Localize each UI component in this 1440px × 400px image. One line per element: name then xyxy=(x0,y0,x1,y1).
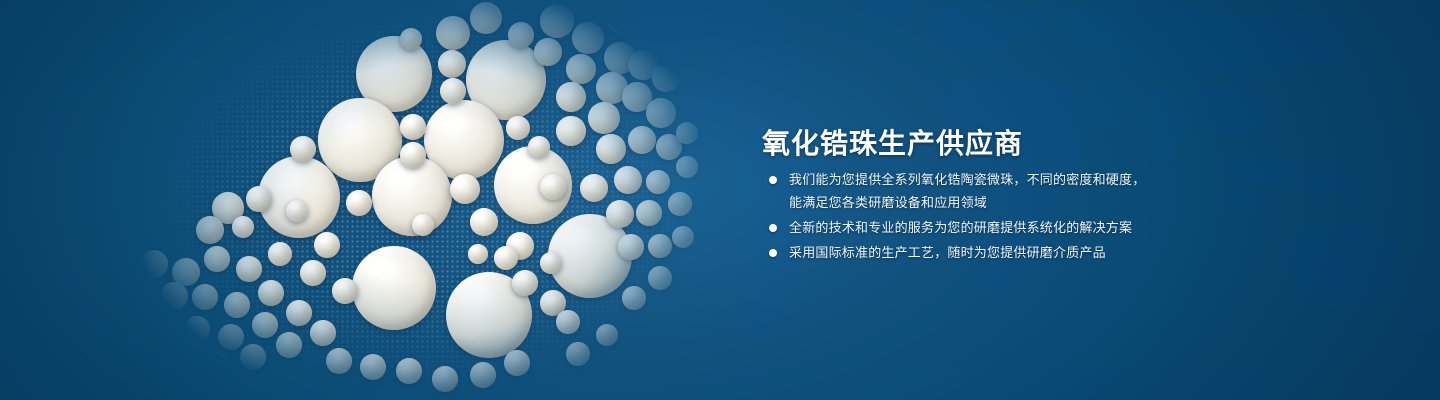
feature-text-line: 能满足您各类研磨设备和应用领域 xyxy=(789,191,1232,214)
promo-banner: 氧化锆珠生产供应商 我们能为您提供全系列氧化锆陶瓷微珠，不同的密度和硬度， 能满… xyxy=(0,0,1440,400)
bullet-dot-icon xyxy=(769,224,777,232)
feature-item: 全新的技术和专业的服务为您的研磨提供系统化的解决方案 xyxy=(762,216,1232,239)
bullet-dot-icon xyxy=(769,176,777,184)
feature-text-line: 全新的技术和专业的服务为您的研磨提供系统化的解决方案 xyxy=(789,216,1232,239)
feature-text-line: 采用国际标准的生产工艺，随时为您提供研磨介质产品 xyxy=(789,241,1232,264)
feature-item: 采用国际标准的生产工艺，随时为您提供研磨介质产品 xyxy=(762,241,1232,264)
banner-title: 氧化锆珠生产供应商 xyxy=(762,127,1023,161)
zirconia-beads-photo xyxy=(0,0,740,400)
feature-text-line: 我们能为您提供全系列氧化锆陶瓷微珠，不同的密度和硬度， xyxy=(789,168,1232,191)
feature-list: 我们能为您提供全系列氧化锆陶瓷微珠，不同的密度和硬度， 能满足您各类研磨设备和应… xyxy=(762,168,1232,264)
feature-item: 我们能为您提供全系列氧化锆陶瓷微珠，不同的密度和硬度， 能满足您各类研磨设备和应… xyxy=(762,168,1232,214)
bullet-dot-icon xyxy=(769,249,777,257)
banner-content: 氧化锆珠生产供应商 我们能为您提供全系列氧化锆陶瓷微珠，不同的密度和硬度， 能满… xyxy=(762,0,1382,400)
bead-cluster xyxy=(0,0,740,400)
